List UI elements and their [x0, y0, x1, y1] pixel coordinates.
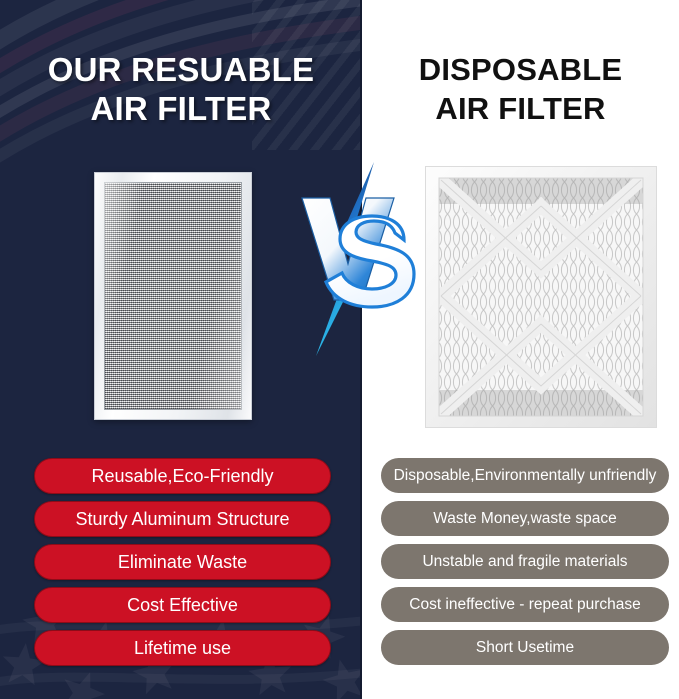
list-item[interactable]: Unstable and fragile materials — [381, 544, 669, 579]
page-title-right: DISPOSABLE AIR FILTER — [362, 50, 679, 128]
benefits-list-reusable: Reusable,Eco-Friendly Sturdy Aluminum St… — [34, 458, 331, 673]
page-title-left: OUR RESUABLE AIR FILTER — [0, 50, 362, 128]
list-item[interactable]: Cost Effective — [34, 587, 331, 623]
list-item[interactable]: Eliminate Waste — [34, 544, 331, 580]
vs-badge: VS — [296, 160, 418, 358]
drawbacks-list-disposable: Disposable,Environmentally unfriendly Wa… — [381, 458, 669, 673]
list-item[interactable]: Cost ineffective - repeat purchase — [381, 587, 669, 622]
aluminum-mesh-texture — [104, 182, 242, 410]
product-image-disposable-filter — [425, 166, 657, 428]
list-item[interactable]: Reusable,Eco-Friendly — [34, 458, 331, 494]
list-item[interactable]: Lifetime use — [34, 630, 331, 666]
list-item[interactable]: Short Usetime — [381, 630, 669, 665]
comparison-infographic: OUR RESUABLE AIR FILTER DISPOSABLE AIR F… — [0, 0, 679, 699]
product-image-reusable-filter — [94, 172, 252, 420]
list-item[interactable]: Disposable,Environmentally unfriendly — [381, 458, 669, 493]
list-item[interactable]: Waste Money,waste space — [381, 501, 669, 536]
list-item[interactable]: Sturdy Aluminum Structure — [34, 501, 331, 537]
